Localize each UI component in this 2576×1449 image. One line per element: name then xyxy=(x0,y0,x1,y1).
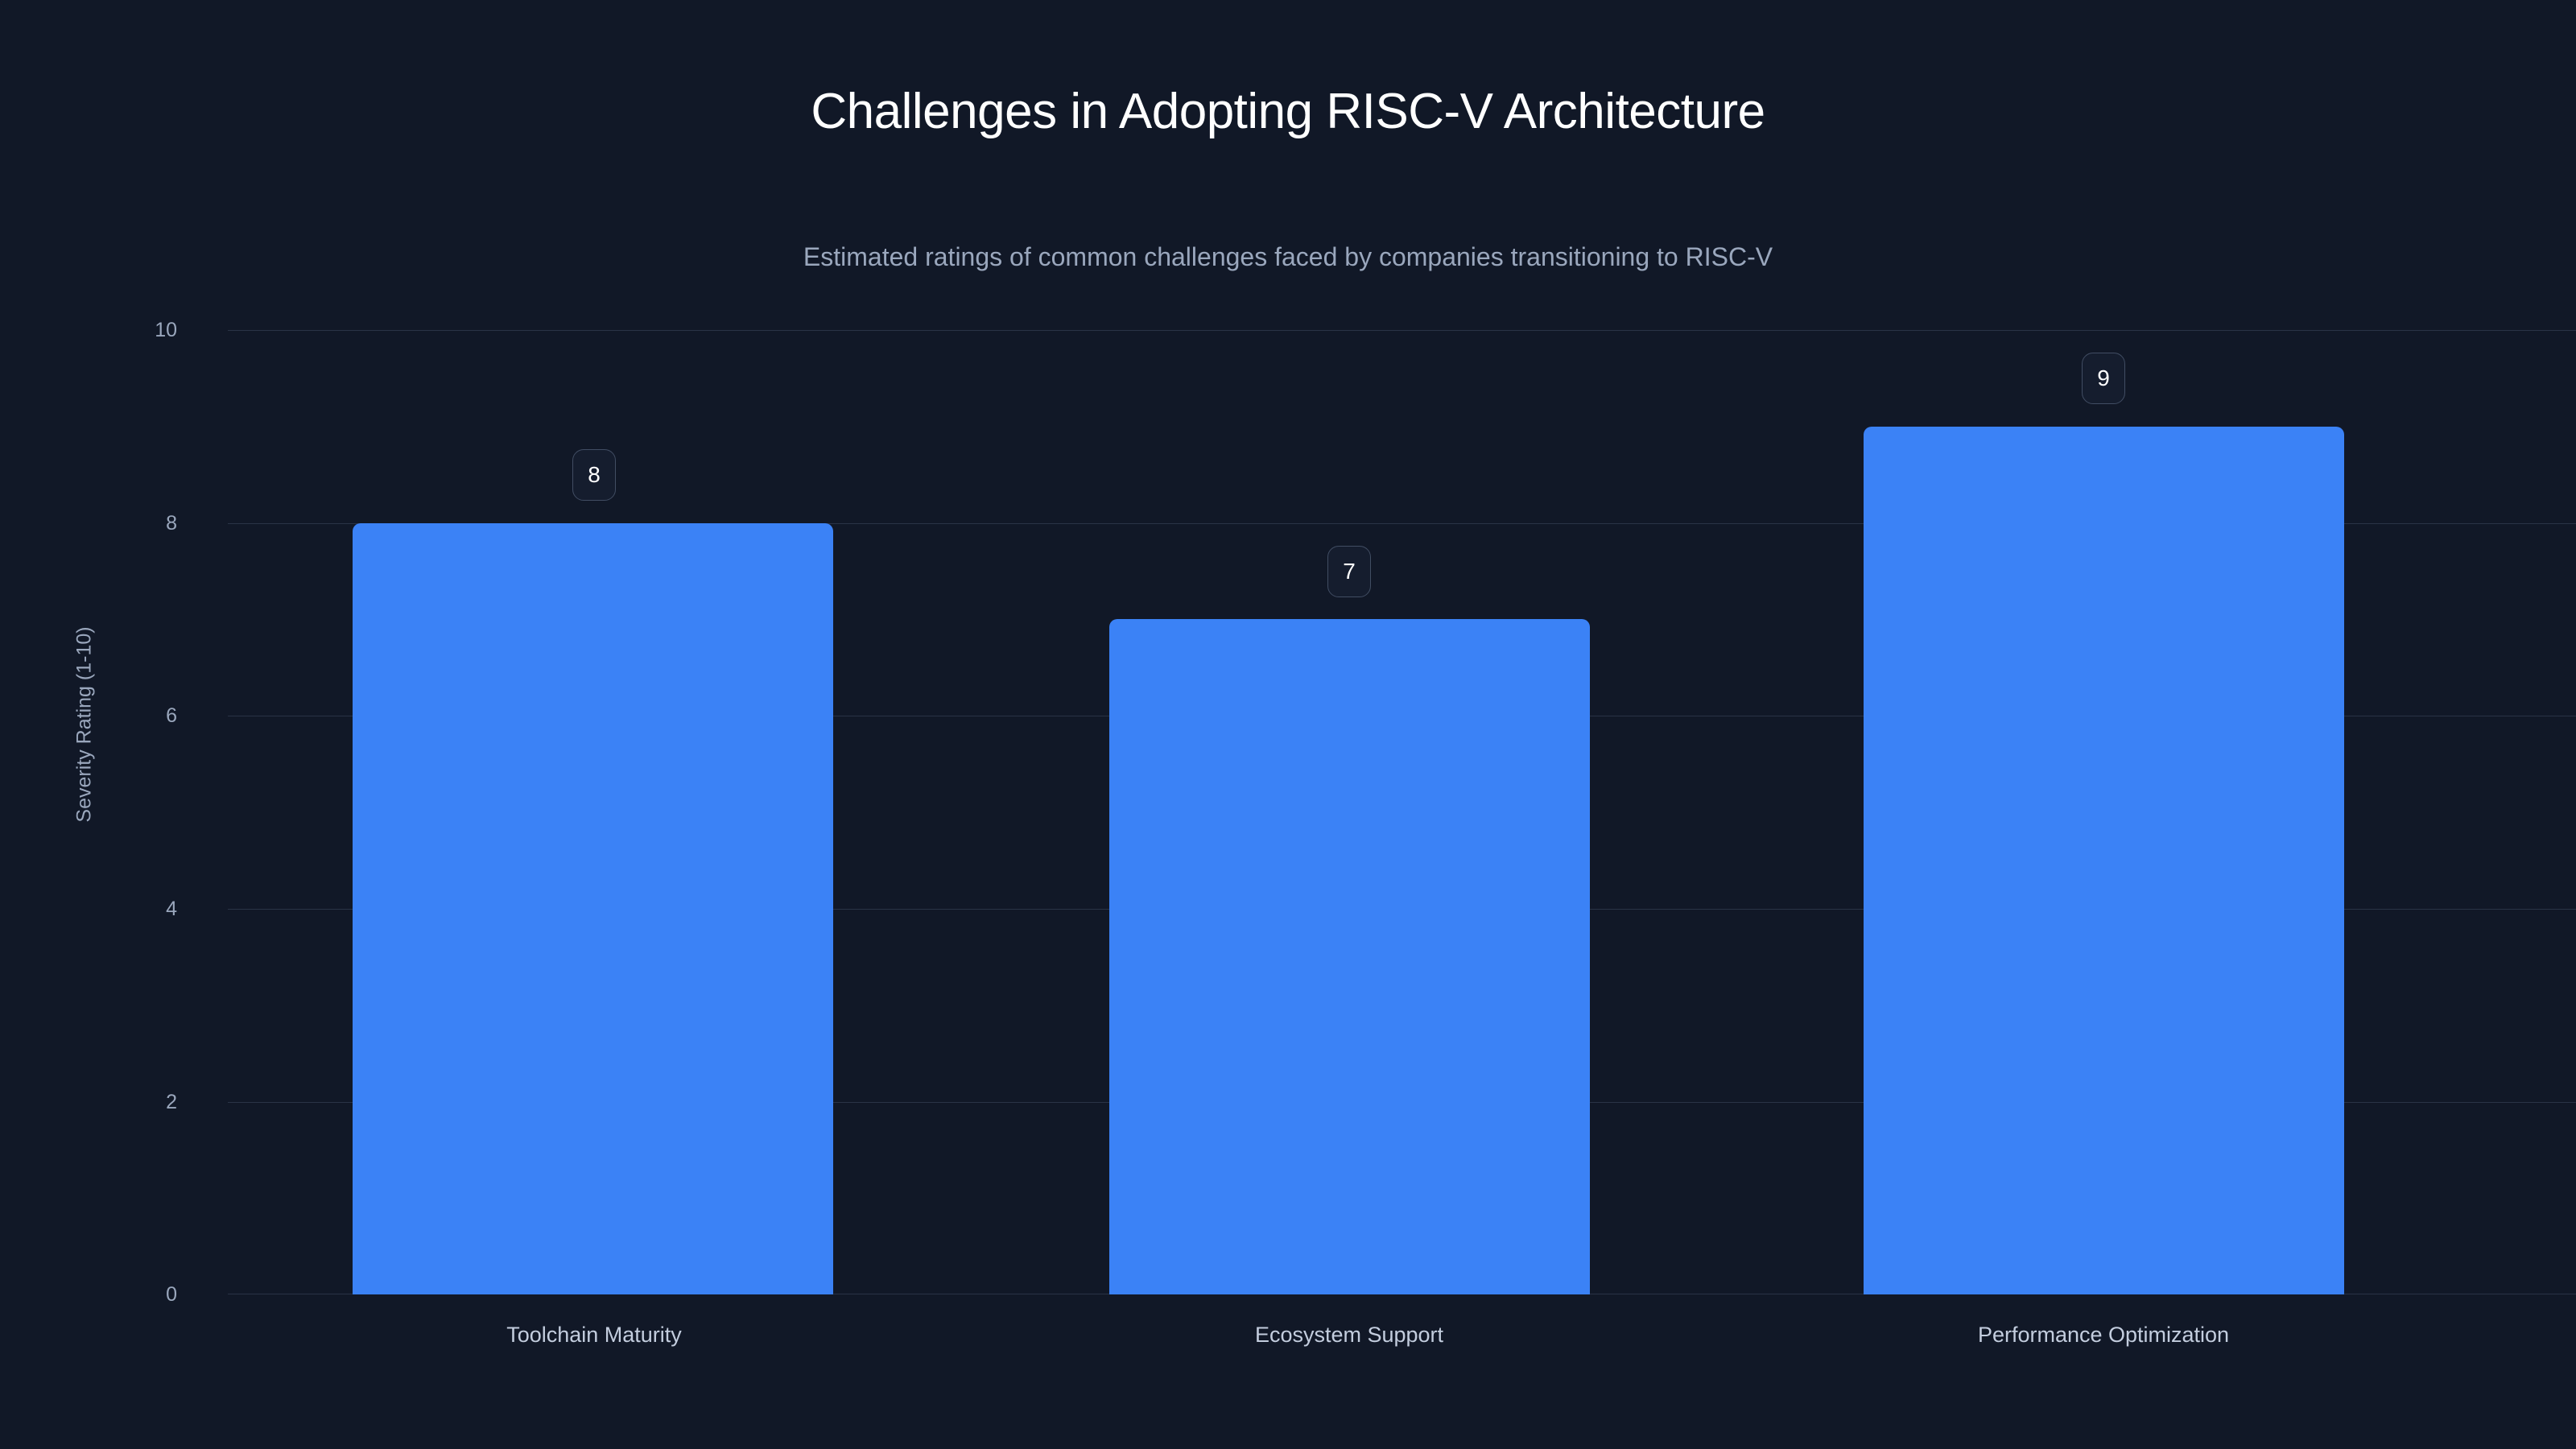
bar-ecosystem-support[interactable] xyxy=(1109,619,1590,1294)
chart-subtitle: Estimated ratings of common challenges f… xyxy=(0,244,2576,270)
y-tick-label: 8 xyxy=(166,514,177,534)
bar-chart-canvas: Challenges in Adopting RISC-V Architectu… xyxy=(0,0,2576,1449)
bar-performance-optimization[interactable] xyxy=(1864,427,2344,1294)
y-tick-label: 4 xyxy=(166,899,177,919)
y-tick-label: 2 xyxy=(166,1092,177,1113)
x-tick-label-toolchain-maturity: Toolchain Maturity xyxy=(506,1324,682,1346)
x-tick-label-ecosystem-support: Ecosystem Support xyxy=(1255,1324,1443,1346)
y-tick-label: 6 xyxy=(166,706,177,726)
x-tick-label-performance-optimization: Performance Optimization xyxy=(1978,1324,2229,1346)
gridline-10 xyxy=(228,330,2576,331)
value-badge-performance-optimization: 9 xyxy=(2082,353,2125,404)
chart-title: Challenges in Adopting RISC-V Architectu… xyxy=(0,87,2576,137)
bar-toolchain-maturity[interactable] xyxy=(353,523,833,1294)
y-tick-label: 10 xyxy=(155,320,177,341)
value-badge-ecosystem-support: 7 xyxy=(1327,546,1371,597)
y-tick-label: 0 xyxy=(166,1285,177,1305)
y-axis-tick-labels: 10 8 6 4 2 0 xyxy=(0,330,197,1294)
value-badge-toolchain-maturity: 8 xyxy=(572,449,616,501)
